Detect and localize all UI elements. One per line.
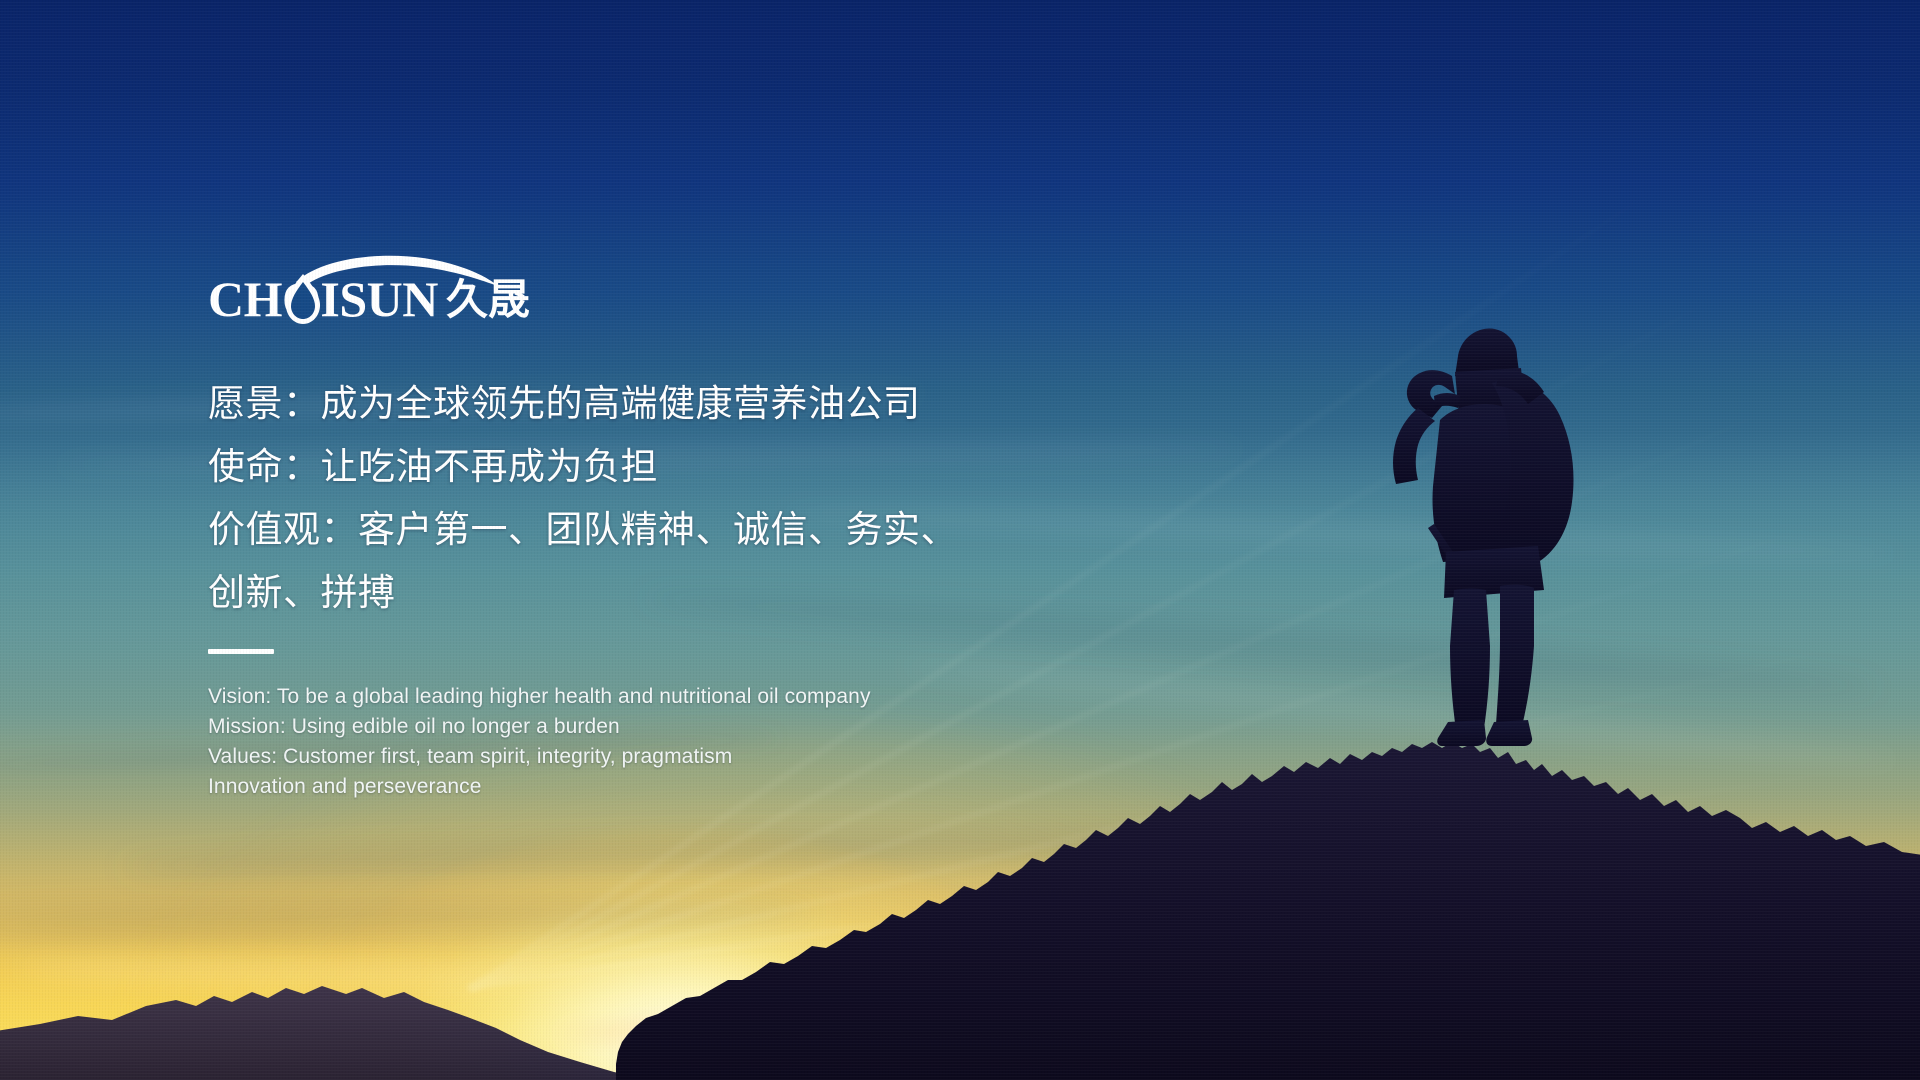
vision-line-en: Vision: To be a global leading higher he…: [208, 682, 1208, 712]
mission-line-cn: 使命：让吃油不再成为负担: [208, 435, 1208, 498]
values-line-cn-a: 价值观：客户第一、团队精神、诚信、务实、: [208, 498, 1208, 561]
values-line-en-a: Values: Customer first, team spirit, int…: [208, 742, 1208, 772]
logo-wordmark-cn: 久晟: [446, 275, 530, 324]
divider-rule: [208, 649, 274, 654]
distant-ridge-icon: [0, 986, 650, 1080]
slide-canvas: CHOISUN 久晟 愿景：成为全球领先的高端健康营养油公司 使命：让吃油不再成…: [0, 0, 1920, 1080]
hiker-silhouette-icon: [1393, 328, 1574, 746]
mission-line-en: Mission: Using edible oil no longer a bu…: [208, 712, 1208, 742]
company-logo: CHOISUN 久晟: [208, 252, 568, 338]
mission-statement-block: 愿景：成为全球领先的高端健康营养油公司 使命：让吃油不再成为负担 价值观：客户第…: [208, 372, 1208, 802]
values-line-en-b: Innovation and perseverance: [208, 772, 1208, 802]
logo-wordmark-latin: CHOISUN: [208, 271, 438, 327]
values-line-cn-b: 创新、拼搏: [208, 561, 1208, 624]
vision-line-cn: 愿景：成为全球领先的高端健康营养油公司: [208, 372, 1208, 435]
